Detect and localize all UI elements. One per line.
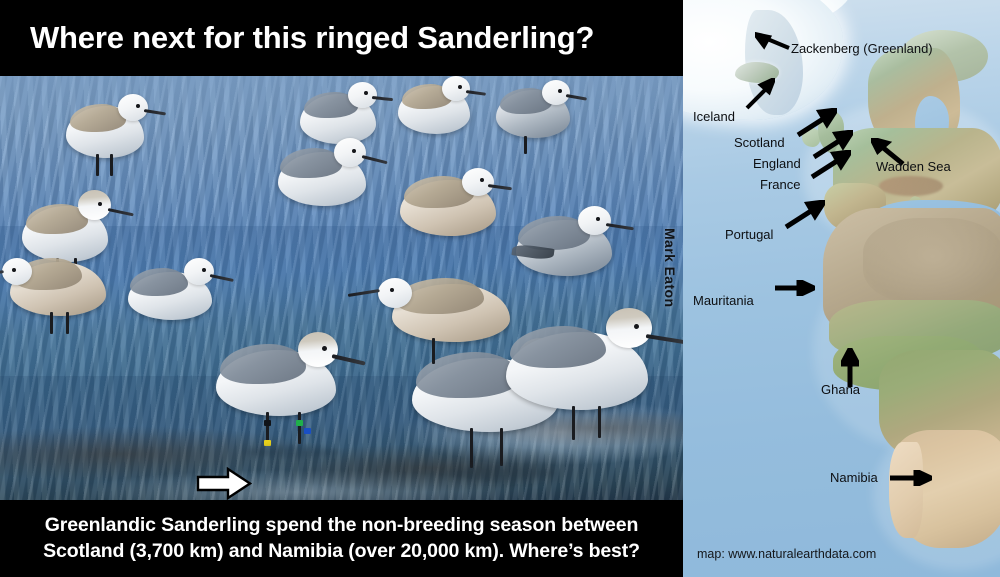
map-label-iceland: Iceland <box>693 110 735 123</box>
map-label-wadden-sea: Wadden Sea <box>876 160 951 173</box>
sanderling-photograph: Mark Eaton <box>0 76 683 500</box>
caption-bar: Greenlandic Sanderling spend the non-bre… <box>0 500 683 577</box>
caption-line-2: Scotland (3,700 km) and Namibia (over 20… <box>43 540 640 563</box>
photo-panel: Where next for this ringed Sanderling? <box>0 0 683 577</box>
photographer-credit: Mark Eaton <box>662 228 678 307</box>
colour-ring-dark <box>264 420 271 426</box>
map-label-portugal: Portugal <box>725 228 773 241</box>
map-label-zackenberg: Zackenberg (Greenland) <box>791 42 933 55</box>
france-arrow-icon <box>809 150 851 180</box>
colour-ring-yellow <box>264 440 271 446</box>
map-label-england: England <box>753 157 801 170</box>
map-label-mauritania: Mauritania <box>693 294 754 307</box>
colour-ring-blue <box>304 428 311 434</box>
mauritania-arrow-icon <box>773 280 815 296</box>
title-bar: Where next for this ringed Sanderling? <box>0 0 683 76</box>
iceland-arrow-icon <box>743 78 775 110</box>
zackenberg-arrow-icon <box>755 32 791 52</box>
map-label-france: France <box>760 178 800 191</box>
sahara-desert-relief <box>863 218 1000 304</box>
namib-coast-region <box>889 442 923 538</box>
alps-relief <box>879 176 943 196</box>
pointer-arrow-icon <box>196 467 252 500</box>
colour-ring-green <box>296 420 303 426</box>
map-label-scotland: Scotland <box>734 136 785 149</box>
namibia-arrow-icon <box>888 470 932 486</box>
flyway-map: Zackenberg (Greenland) Iceland Scotland … <box>683 0 1000 577</box>
ringed-leg-right <box>298 412 301 444</box>
map-label-ghana: Ghana <box>821 383 860 396</box>
map-label-namibia: Namibia <box>830 471 878 484</box>
map-attribution: map: www.naturalearthdata.com <box>697 547 876 561</box>
caption-line-1: Greenlandic Sanderling spend the non-bre… <box>45 514 638 537</box>
poster-root: Where next for this ringed Sanderling? <box>0 0 1000 577</box>
poster-title: Where next for this ringed Sanderling? <box>0 20 594 56</box>
portugal-arrow-icon <box>783 200 825 230</box>
